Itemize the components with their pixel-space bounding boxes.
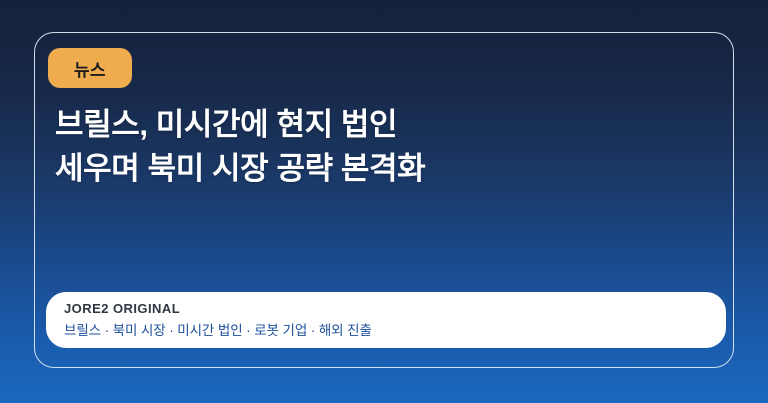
tag-list: 브릴스 · 북미 시장 · 미시간 법인 · 로봇 기업 · 해외 진출 [64,322,726,340]
category-badge-news[interactable]: 뉴스 [48,48,132,88]
category-badge-label: 뉴스 [74,56,106,81]
headline-line-2: 세우며 북미 시장 공략 본격화 [55,147,695,191]
headline: 브릴스, 미시간에 현지 법인 세우며 북미 시장 공략 본격화 [55,103,695,191]
footer-info-card: JORE2 ORIGINAL 브릴스 · 북미 시장 · 미시간 법인 · 로봇… [46,292,726,348]
news-card-canvas: 뉴스 브릴스, 미시간에 현지 법인 세우며 북미 시장 공략 본격화 JORE… [0,0,768,403]
headline-line-1: 브릴스, 미시간에 현지 법인 [55,103,695,147]
brand-label: JORE2 ORIGINAL [64,301,726,317]
